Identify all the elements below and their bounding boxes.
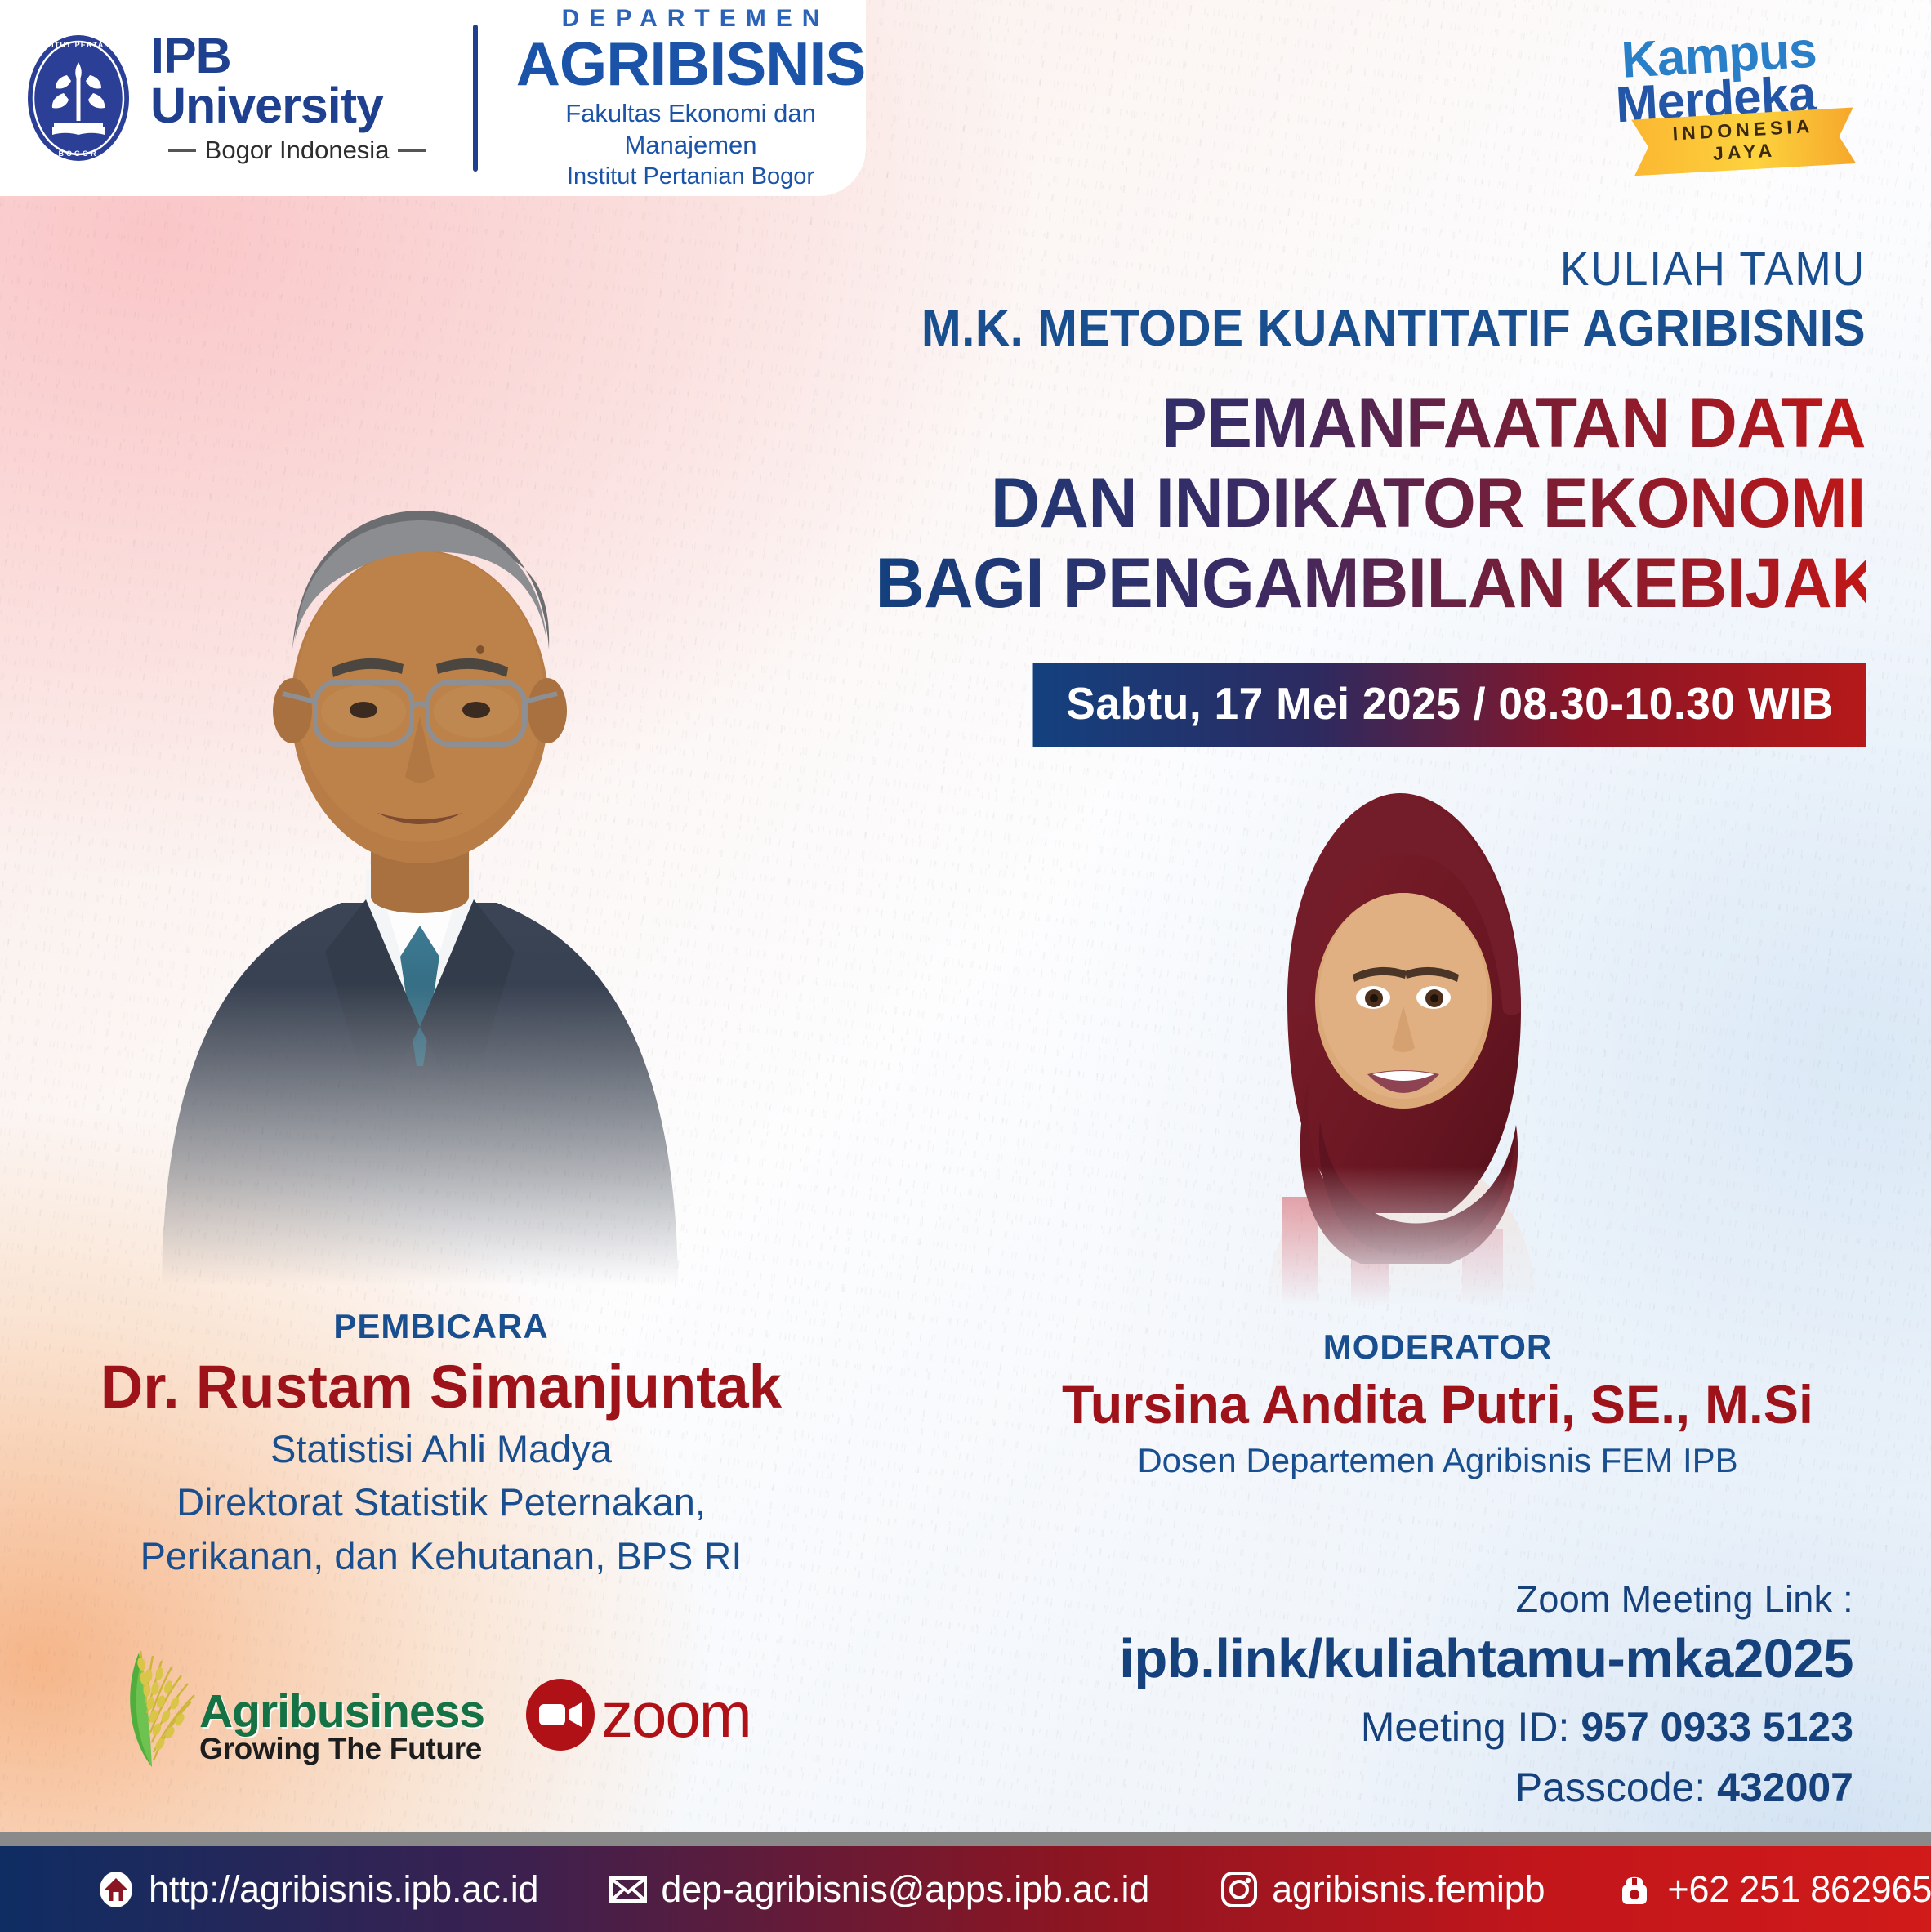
svg-text:BOGOR: BOGOR xyxy=(58,149,98,158)
speaker-title-line-1: Statistisi Ahli Madya xyxy=(74,1426,809,1472)
zoom-logo: zoom xyxy=(524,1679,751,1751)
header-panel: INSTITUT PERTANIAN BOGOR IPB University … xyxy=(0,0,866,196)
course-name: M.K. METODE KUANTITATIF AGRIBISNIS xyxy=(916,301,1866,355)
footer-instagram[interactable]: agribisnis.femipb xyxy=(1220,1868,1545,1911)
footer-phone[interactable]: +62 251 8629654 xyxy=(1615,1868,1931,1911)
department-block: DEPARTEMEN AGRIBISNIS Fakultas Ekonomi d… xyxy=(515,5,866,191)
speaker-portrait xyxy=(96,380,742,1295)
footer-contact-bar: http://agribisnis.ipb.ac.id dep-agribisn… xyxy=(0,1846,1931,1932)
svg-text:INSTITUT PERTANIAN: INSTITUT PERTANIAN xyxy=(31,41,126,49)
footer-top-strip xyxy=(0,1832,1931,1846)
zoom-meeting-details: Zoom Meeting Link : ipb.link/kuliahtamu-… xyxy=(955,1578,1853,1811)
speaker-title-line-3: Perikanan, dan Kehutanan, BPS RI xyxy=(74,1533,809,1579)
telephone-icon xyxy=(1615,1870,1654,1909)
envelope-icon xyxy=(609,1870,648,1909)
footer-email[interactable]: dep-agribisnis@apps.ipb.ac.id xyxy=(609,1868,1149,1911)
tagline-rule-left xyxy=(168,149,196,152)
footer-email-text: dep-agribisnis@apps.ipb.ac.id xyxy=(661,1868,1149,1911)
kampus-merdeka-logo: Kampus Merdeka INDONESIA JAYA xyxy=(1612,25,1864,177)
agribusiness-tagline: Growing The Future xyxy=(199,1733,484,1765)
agribusiness-wordmark: Agribusiness Growing The Future xyxy=(199,1689,484,1765)
zoom-meeting-link[interactable]: ipb.link/kuliahtamu-mka2025 xyxy=(955,1627,1853,1690)
speaker-role-label: PEMBICARA xyxy=(74,1307,809,1346)
moderator-name: Tursina Andita Putri, SE., M.Si xyxy=(1029,1376,1846,1433)
department-kicker: DEPARTEMEN xyxy=(525,5,866,33)
headline-line-3: BAGI PENGAMBILAN KEBIJAKAN xyxy=(876,543,1866,623)
zoom-passcode-row: Passcode: 432007 xyxy=(955,1764,1853,1811)
zoom-meeting-id-label: Meeting ID: xyxy=(1361,1704,1570,1750)
wheat-stalk-icon xyxy=(106,1638,198,1769)
moderator-info: MODERATOR Tursina Andita Putri, SE., M.S… xyxy=(1021,1327,1854,1481)
zoom-passcode-label: Passcode: xyxy=(1515,1765,1706,1810)
headline-line-2: DAN INDIKATOR EKONOMI xyxy=(876,463,1866,543)
speaker-name: Dr. Rustam Simanjuntak xyxy=(81,1356,801,1419)
department-institute: Institut Pertanian Bogor xyxy=(515,162,866,191)
event-kicker: KULIAH TAMU xyxy=(926,245,1866,295)
speaker-title-line-2: Direktorat Statistik Peternakan, xyxy=(74,1479,809,1525)
speaker-info: PEMBICARA Dr. Rustam Simanjuntak Statist… xyxy=(74,1307,809,1579)
department-faculty: Fakultas Ekonomi dan Manajemen xyxy=(515,98,866,162)
moderator-portrait xyxy=(1217,756,1576,1311)
tagline-rule-right xyxy=(398,149,426,152)
department-name: AGRIBISNIS xyxy=(515,34,866,95)
home-icon xyxy=(96,1870,136,1909)
footer-website-text: http://agribisnis.ipb.ac.id xyxy=(149,1868,538,1911)
ipb-tagline-row: Bogor Indonesia xyxy=(150,136,444,165)
zoom-meeting-id-value: 957 0933 5123 xyxy=(1581,1704,1853,1750)
title-block: KULIAH TAMU M.K. METODE KUANTITATIF AGRI… xyxy=(845,245,1866,623)
ipb-university-name: IPB University xyxy=(150,31,444,131)
zoom-link-label: Zoom Meeting Link : xyxy=(955,1578,1853,1621)
zoom-passcode-value: 432007 xyxy=(1717,1765,1853,1810)
moderator-role-label: MODERATOR xyxy=(1021,1327,1854,1367)
agribusiness-logo: Agribusiness Growing The Future xyxy=(106,1638,484,1769)
ipb-seal-icon: INSTITUT PERTANIAN BOGOR xyxy=(25,33,132,163)
ipb-wordmark: IPB University Bogor Indonesia xyxy=(150,31,444,165)
ipb-tagline: Bogor Indonesia xyxy=(205,136,390,165)
moderator-affiliation: Dosen Departemen Agribisnis FEM IPB xyxy=(1021,1439,1854,1481)
event-headline: PEMANFAATAN DATA DAN INDIKATOR EKONOMI B… xyxy=(876,383,1866,623)
date-time-banner: Sabtu, 17 Mei 2025 / 08.30-10.30 WIB xyxy=(1033,663,1866,747)
agribusiness-name: Agribusiness xyxy=(199,1689,484,1735)
zoom-meeting-id-row: Meeting ID: 957 0933 5123 xyxy=(955,1703,1853,1751)
header-divider xyxy=(473,25,478,172)
headline-line-1: PEMANFAATAN DATA xyxy=(876,383,1866,463)
zoom-camera-icon xyxy=(524,1679,596,1751)
footer-phone-text: +62 251 8629654 xyxy=(1667,1868,1931,1911)
instagram-icon xyxy=(1220,1870,1259,1909)
footer-website[interactable]: http://agribisnis.ipb.ac.id xyxy=(96,1868,538,1911)
poster-root: INSTITUT PERTANIAN BOGOR IPB University … xyxy=(0,0,1931,1932)
zoom-wordmark: zoom xyxy=(601,1683,751,1747)
footer-instagram-text: agribisnis.femipb xyxy=(1272,1868,1545,1911)
